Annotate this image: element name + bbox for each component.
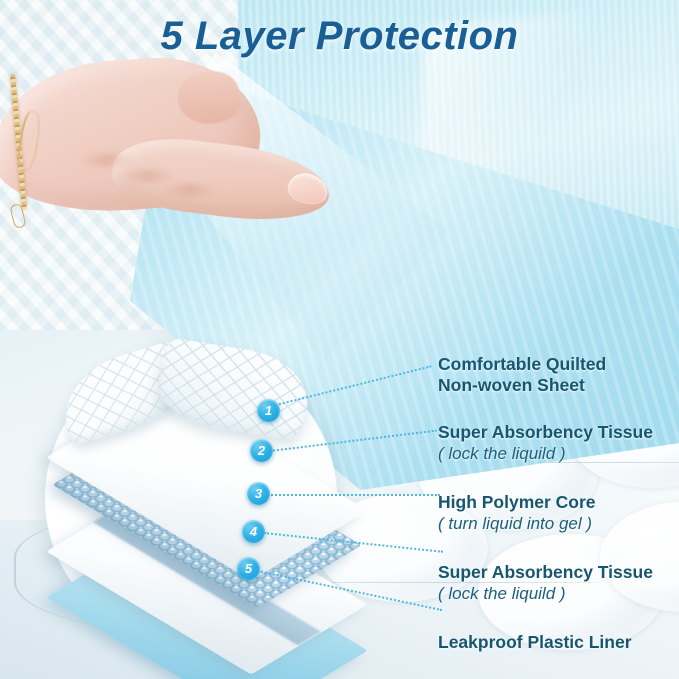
knuckle-crease [78, 154, 134, 166]
layer-label-3: High Polymer Core ( turn liquid into gel… [438, 492, 596, 534]
layer-label-4: Super Absorbency Tissue ( lock the liqui… [438, 562, 653, 604]
leader-line-3 [268, 494, 440, 496]
layer-label-4-line1: Super Absorbency Tissue [438, 562, 653, 583]
layer-label-4-note: ( lock the liquild ) [438, 583, 653, 604]
layer-badge-5[interactable]: 5 [237, 557, 260, 580]
layer-label-5: Leakproof Plastic Liner [438, 632, 632, 653]
product-infographic: 1 2 3 4 5 5 Layer Protection Comfortable… [0, 0, 679, 679]
layer-label-1-line1: Comfortable Quilted [438, 354, 606, 375]
layer-badge-3[interactable]: 3 [247, 482, 270, 505]
layer-label-2: Super Absorbency Tissue ( lock the liqui… [438, 422, 653, 464]
hand-holding-pad [0, 52, 322, 282]
layer-label-2-note: ( lock the liquild ) [438, 443, 653, 464]
layer-badge-4[interactable]: 4 [242, 520, 265, 543]
knuckle-crease [120, 170, 176, 182]
layer-label-3-line1: High Polymer Core [438, 492, 596, 513]
layer-stack-inset-circle [45, 352, 337, 644]
layer-label-2-line1: Super Absorbency Tissue [438, 422, 653, 443]
layer-badge-2[interactable]: 2 [250, 439, 273, 462]
layer-label-1-line2: Non-woven Sheet [438, 375, 606, 396]
layer-label-5-line1: Leakproof Plastic Liner [438, 632, 632, 653]
page-title: 5 Layer Protection [0, 14, 679, 59]
layer-badge-1[interactable]: 1 [257, 399, 280, 422]
layer-label-1: Comfortable Quilted Non-woven Sheet [438, 354, 606, 396]
knuckle-crease [162, 184, 218, 196]
layer-label-3-note: ( turn liquid into gel ) [438, 513, 596, 534]
